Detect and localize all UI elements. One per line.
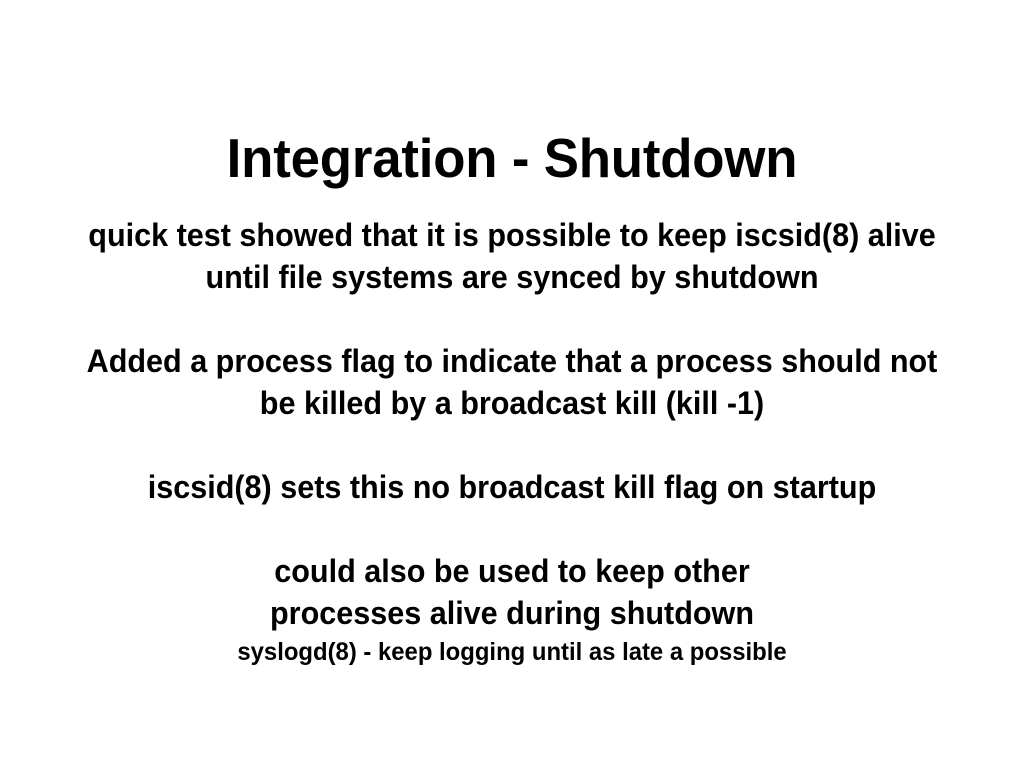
body-line: until file systems are synced by shutdow… — [54, 256, 971, 298]
slide-body: quick test showed that it is possible to… — [32, 214, 992, 670]
body-line: iscsid(8) sets this no broadcast kill fl… — [54, 466, 971, 508]
body-subline: syslogd(8) - keep logging until as late … — [54, 634, 971, 670]
body-line: Added a process flag to indicate that a … — [54, 340, 971, 382]
block-spacer — [32, 298, 992, 340]
page-title: Integration - Shutdown — [20, 129, 1003, 188]
block-spacer — [32, 424, 992, 466]
body-line: be killed by a broadcast kill (kill -1) — [54, 382, 971, 424]
iscsid-startup-block: iscsid(8) sets this no broadcast kill fl… — [54, 466, 971, 508]
body-line: quick test showed that it is possible to… — [54, 214, 971, 256]
body-line: could also be used to keep other — [54, 550, 971, 592]
other-processes-block: could also be used to keep other process… — [54, 550, 971, 670]
quick-test-block: quick test showed that it is possible to… — [54, 214, 971, 298]
presentation-slide: Integration - Shutdown quick test showed… — [0, 0, 1024, 768]
process-flag-block: Added a process flag to indicate that a … — [54, 340, 971, 424]
body-line: processes alive during shutdown — [54, 592, 971, 634]
block-spacer — [32, 508, 992, 550]
